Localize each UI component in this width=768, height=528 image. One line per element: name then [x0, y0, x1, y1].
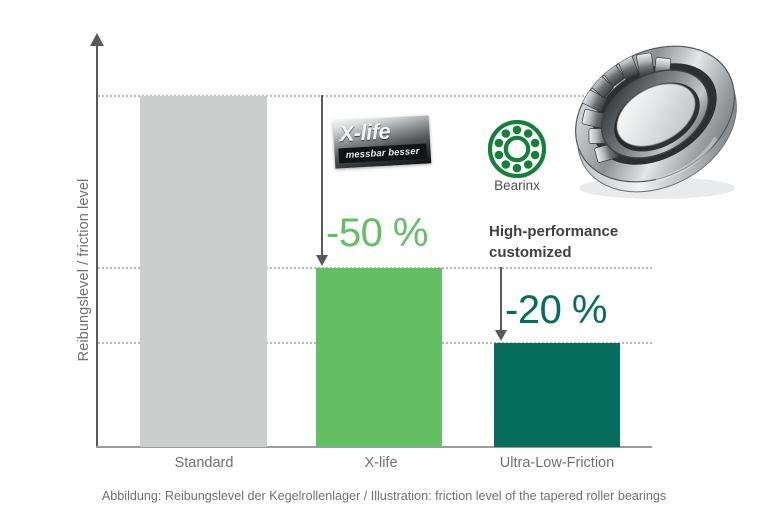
arrow-shaft — [321, 95, 323, 259]
category-label-standard: Standard — [115, 455, 293, 471]
figure-caption: Abbildung: Reibungslevel der Kegelrollen… — [0, 489, 768, 503]
xlife-logo: X-life messbar besser — [333, 115, 432, 168]
reduction-label-ultra-low-friction: -20 % — [505, 288, 607, 333]
y-axis-line — [96, 42, 98, 448]
tapered-roller-bearing-photo — [556, 18, 754, 208]
bearinx-logo-label: Bearinx — [474, 178, 560, 193]
bar-ultra-low-friction — [494, 343, 620, 447]
category-label-xlife: X-life — [292, 455, 470, 471]
xlife-logo-wordmark: X-life — [339, 119, 391, 148]
bearing-icon — [488, 120, 546, 178]
arrow-shaft — [500, 267, 502, 333]
bar-xlife — [316, 268, 442, 447]
y-axis-title: Reibungslevel / friction level — [76, 155, 92, 385]
reduction-label-xlife: -50 % — [326, 211, 428, 256]
chart-canvas: Reibungslevel / friction level Standard … — [0, 0, 768, 528]
arrow-down-icon — [316, 255, 328, 266]
bearinx-logo: Bearinx — [488, 120, 546, 183]
bar-standard — [140, 96, 267, 447]
category-label-ultra-low-friction: Ultra-Low-Friction — [468, 455, 646, 471]
high-performance-note: High-performance customized — [489, 222, 618, 263]
